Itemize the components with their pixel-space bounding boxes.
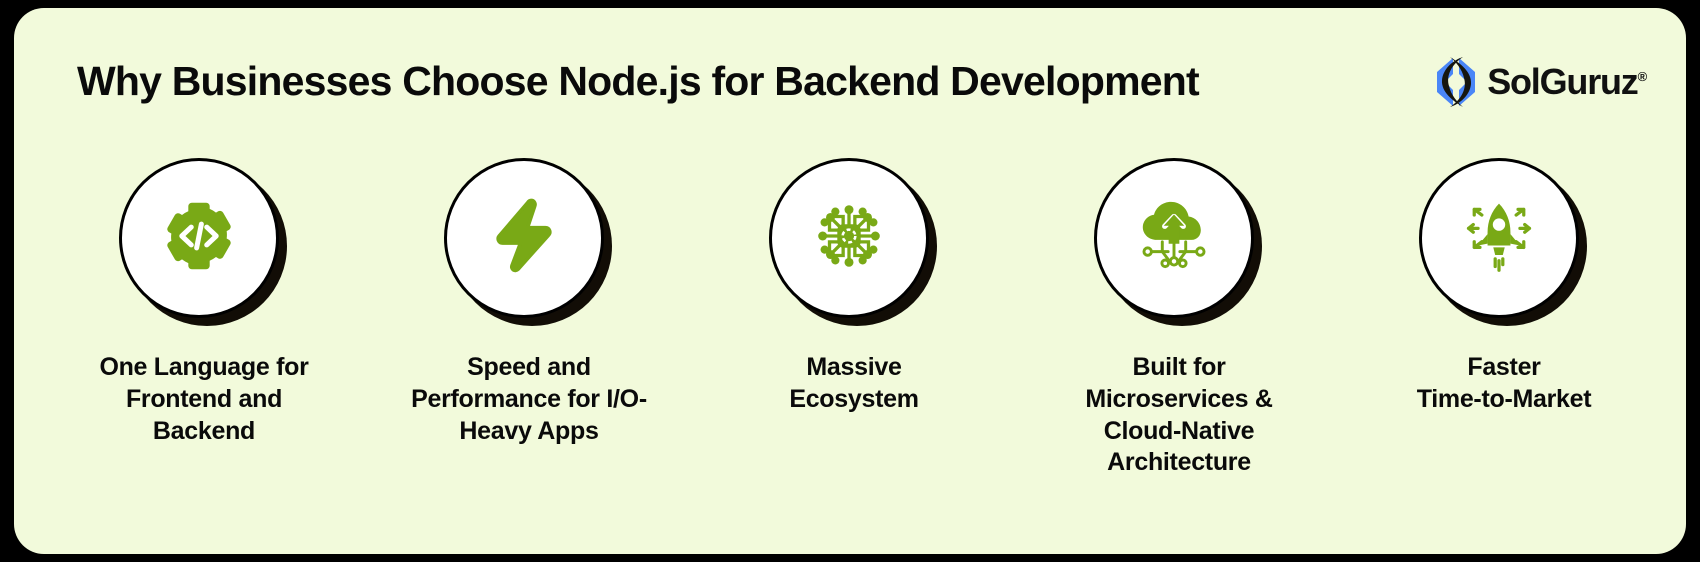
network-ecosystem-icon <box>810 197 888 280</box>
feature-item-speed-performance[interactable]: Speed and Performance for I/O- Heavy App… <box>379 158 679 447</box>
registered-trademark-icon: ® <box>1638 69 1646 84</box>
feature-label: Speed and Performance for I/O- Heavy App… <box>411 352 647 447</box>
brand-logo[interactable]: SolGuruz® <box>1433 56 1646 108</box>
feature-icon-wrap <box>769 158 939 328</box>
feature-label: Massive Ecosystem <box>789 352 918 416</box>
feature-icon-circle <box>769 158 929 318</box>
feature-icon-circle <box>1094 158 1254 318</box>
solguruz-swirl-mark <box>1433 56 1481 108</box>
cloud-upload-circuit-icon <box>1133 197 1215 280</box>
feature-label: One Language for Frontend and Backend <box>99 352 308 447</box>
page-title: Why Businesses Choose Node.js for Backen… <box>77 58 1199 105</box>
feature-item-faster-time-to-market[interactable]: Faster Time-to-Market <box>1354 158 1654 416</box>
card-header: Why Businesses Choose Node.js for Backen… <box>14 8 1686 138</box>
feature-item-one-language[interactable]: One Language for Frontend and Backend <box>54 158 354 447</box>
rocket-launch-icon <box>1459 196 1539 281</box>
lightning-bolt-icon <box>489 198 559 279</box>
feature-icon-wrap <box>1094 158 1264 328</box>
feature-icon-circle <box>119 158 279 318</box>
infographic-card: Why Businesses Choose Node.js for Backen… <box>14 8 1686 554</box>
feature-icon-wrap <box>1419 158 1589 328</box>
feature-item-massive-ecosystem[interactable]: Massive Ecosystem <box>704 158 1004 416</box>
feature-label: Built for Microservices & Cloud-Native A… <box>1085 352 1272 479</box>
feature-label: Faster Time-to-Market <box>1417 352 1592 416</box>
feature-icon-circle <box>444 158 604 318</box>
feature-icon-circle <box>1419 158 1579 318</box>
feature-icon-wrap <box>444 158 614 328</box>
brand-wordmark: SolGuruz® <box>1487 64 1646 100</box>
brand-wordmark-text: SolGuruz <box>1487 61 1637 102</box>
features-row: One Language for Frontend and Backend Sp… <box>54 158 1654 479</box>
feature-icon-wrap <box>119 158 289 328</box>
feature-item-microservices-cloud[interactable]: Built for Microservices & Cloud-Native A… <box>1029 158 1329 479</box>
code-gear-icon <box>161 198 237 279</box>
